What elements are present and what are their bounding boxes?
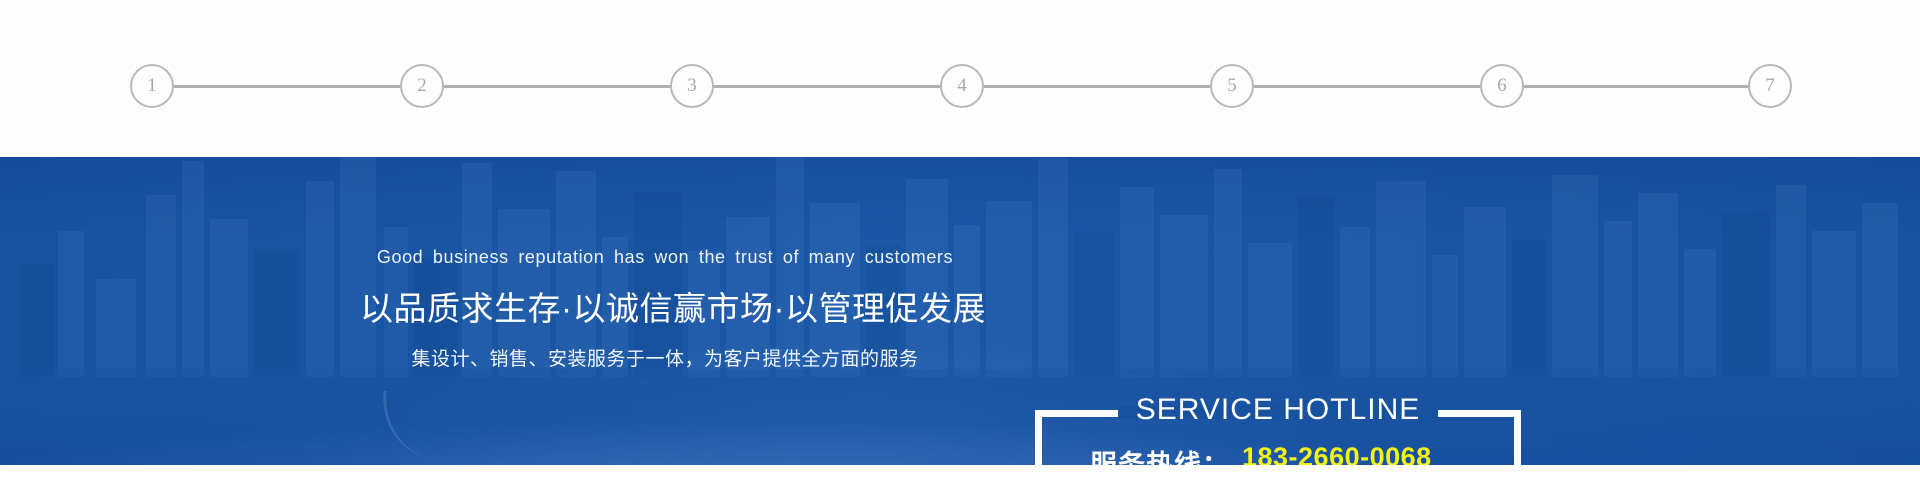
hotline-title: SERVICE HOTLINE	[1118, 393, 1438, 427]
step-node-3[interactable]: 3	[670, 64, 714, 108]
step-connector-5-6	[1254, 85, 1480, 88]
stepper-band: 1 2 3 4 5 6 7	[0, 0, 1920, 157]
step-node-7[interactable]: 7	[1748, 64, 1792, 108]
step-node-6[interactable]: 6	[1480, 64, 1524, 108]
slogan-block: Good business reputation has won the tru…	[360, 247, 970, 371]
step-node-2[interactable]: 2	[400, 64, 444, 108]
step-connector-6-7	[1524, 85, 1750, 88]
step-connector-1-2	[174, 85, 400, 88]
step-connector-2-3	[444, 85, 670, 88]
slogan-chinese-main: 以品质求生存·以诚信赢市场·以管理促发展	[360, 282, 970, 330]
hotline-label: 服务热线：	[1090, 443, 1230, 465]
road-decoration	[0, 369, 1920, 465]
step-node-1[interactable]: 1	[130, 64, 174, 108]
hotline-number-primary[interactable]: 183-2660-0068	[1242, 442, 1432, 465]
step-node-4[interactable]: 4	[940, 64, 984, 108]
promo-banner: Good business reputation has won the tru…	[0, 157, 1920, 465]
step-connector-3-4	[714, 85, 940, 88]
slogan-english: Good business reputation has won the tru…	[360, 247, 970, 268]
bottom-white-band	[0, 465, 1920, 500]
step-connector-4-5	[984, 85, 1210, 88]
step-node-5[interactable]: 5	[1210, 64, 1254, 108]
slogan-chinese-sub: 集设计、销售、安装服务于一体，为客户提供全方面的服务	[360, 344, 970, 371]
